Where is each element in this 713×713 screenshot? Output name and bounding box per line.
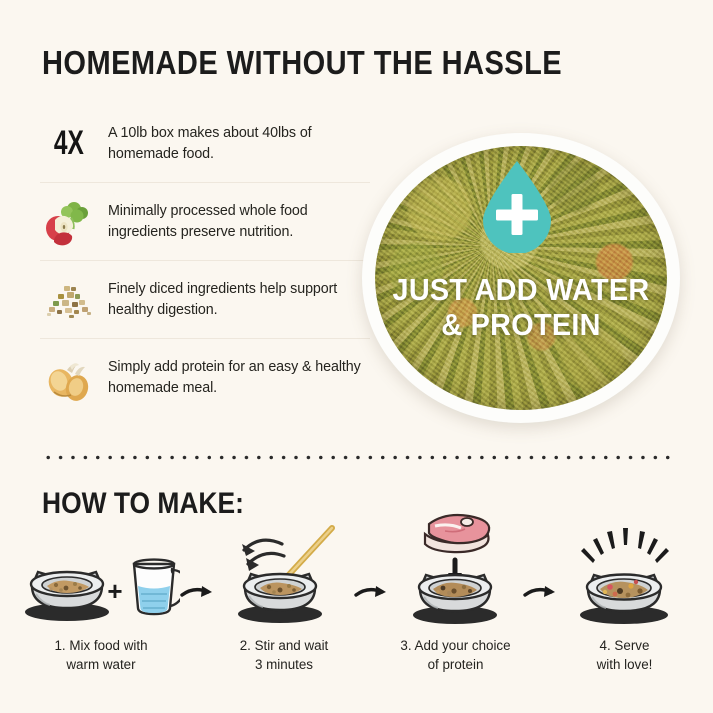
apple-broccoli-icon <box>40 193 98 251</box>
dotted-divider <box>42 455 672 460</box>
caption-line: with love! <box>597 655 653 674</box>
page-title: HOMEMADE WITHOUT THE HASSLE <box>42 44 562 82</box>
caption-line: 4. Serve <box>597 636 653 655</box>
finished-bowl-with-shine-lines-icon <box>560 520 690 628</box>
arrow-right-icon-1 <box>180 520 214 602</box>
feature-row: Simply add protein for an easy & healthy… <box>40 339 370 417</box>
step-1: + 1. Mix food with warm water <box>22 520 180 674</box>
arrow-right-icon-3 <box>523 520 557 602</box>
caption-line: 3 minutes <box>240 655 329 674</box>
arrow-right-icon-2 <box>354 520 388 602</box>
howto-title: HOW TO MAKE: <box>42 487 244 521</box>
feature-row: Minimally processed whole food ingredien… <box>40 183 370 261</box>
caption-line: warm water <box>54 655 147 674</box>
feature-text: A 10lb box makes about 40lbs of homemade… <box>108 123 370 164</box>
feature-text: Simply add protein for an easy & healthy… <box>108 357 370 398</box>
caption-line: 3. Add your choice <box>400 636 510 655</box>
dog-bowl-with-stirring-spoon-icon <box>214 520 354 628</box>
infographic-page: HOMEMADE WITHOUT THE HASSLE 4X A 10lb bo… <box>0 0 713 713</box>
chicken-drumsticks-icon <box>40 349 98 407</box>
step-4: 4. Serve with love! <box>557 520 692 674</box>
step-1-caption: 1. Mix food with warm water <box>54 636 147 674</box>
feature-row: 4X A 10lb box makes about 40lbs of homem… <box>40 105 370 183</box>
step-3: 3. Add your choice of protein <box>388 520 523 674</box>
feature-text: Minimally processed whole food ingredien… <box>108 201 370 242</box>
hero-line-1: JUST ADD WATER <box>371 273 670 308</box>
howto-steps: + 1. Mix food with warm water <box>22 520 692 680</box>
caption-line: 2. Stir and wait <box>240 636 329 655</box>
hero-bowl-image: JUST ADD WATER & PROTEIN <box>360 133 682 425</box>
caption-line: 1. Mix food with <box>54 636 147 655</box>
step-2: 2. Stir and wait 3 minutes <box>214 520 354 674</box>
four-x-label: 4X <box>54 124 84 163</box>
svg-text:+: + <box>107 576 122 606</box>
hero-headline: JUST ADD WATER & PROTEIN <box>371 273 670 342</box>
four-x-badge-icon: 4X <box>40 115 98 173</box>
feature-row: Finely diced ingredients help support he… <box>40 261 370 339</box>
step-3-caption: 3. Add your choice of protein <box>400 636 510 674</box>
feature-list: 4X A 10lb box makes about 40lbs of homem… <box>40 105 370 417</box>
hero-line-2: & PROTEIN <box>371 308 670 343</box>
feature-text: Finely diced ingredients help support he… <box>108 279 370 320</box>
caption-line: of protein <box>400 655 510 674</box>
step-2-caption: 2. Stir and wait 3 minutes <box>240 636 329 674</box>
water-drop-plus-icon <box>477 158 557 253</box>
steak-above-dog-bowl-icon <box>391 520 521 628</box>
dog-bowl-with-food-and-measuring-cup-icon: + <box>22 520 180 628</box>
diced-ingredients-icon <box>40 271 98 329</box>
step-4-caption: 4. Serve with love! <box>597 636 653 674</box>
